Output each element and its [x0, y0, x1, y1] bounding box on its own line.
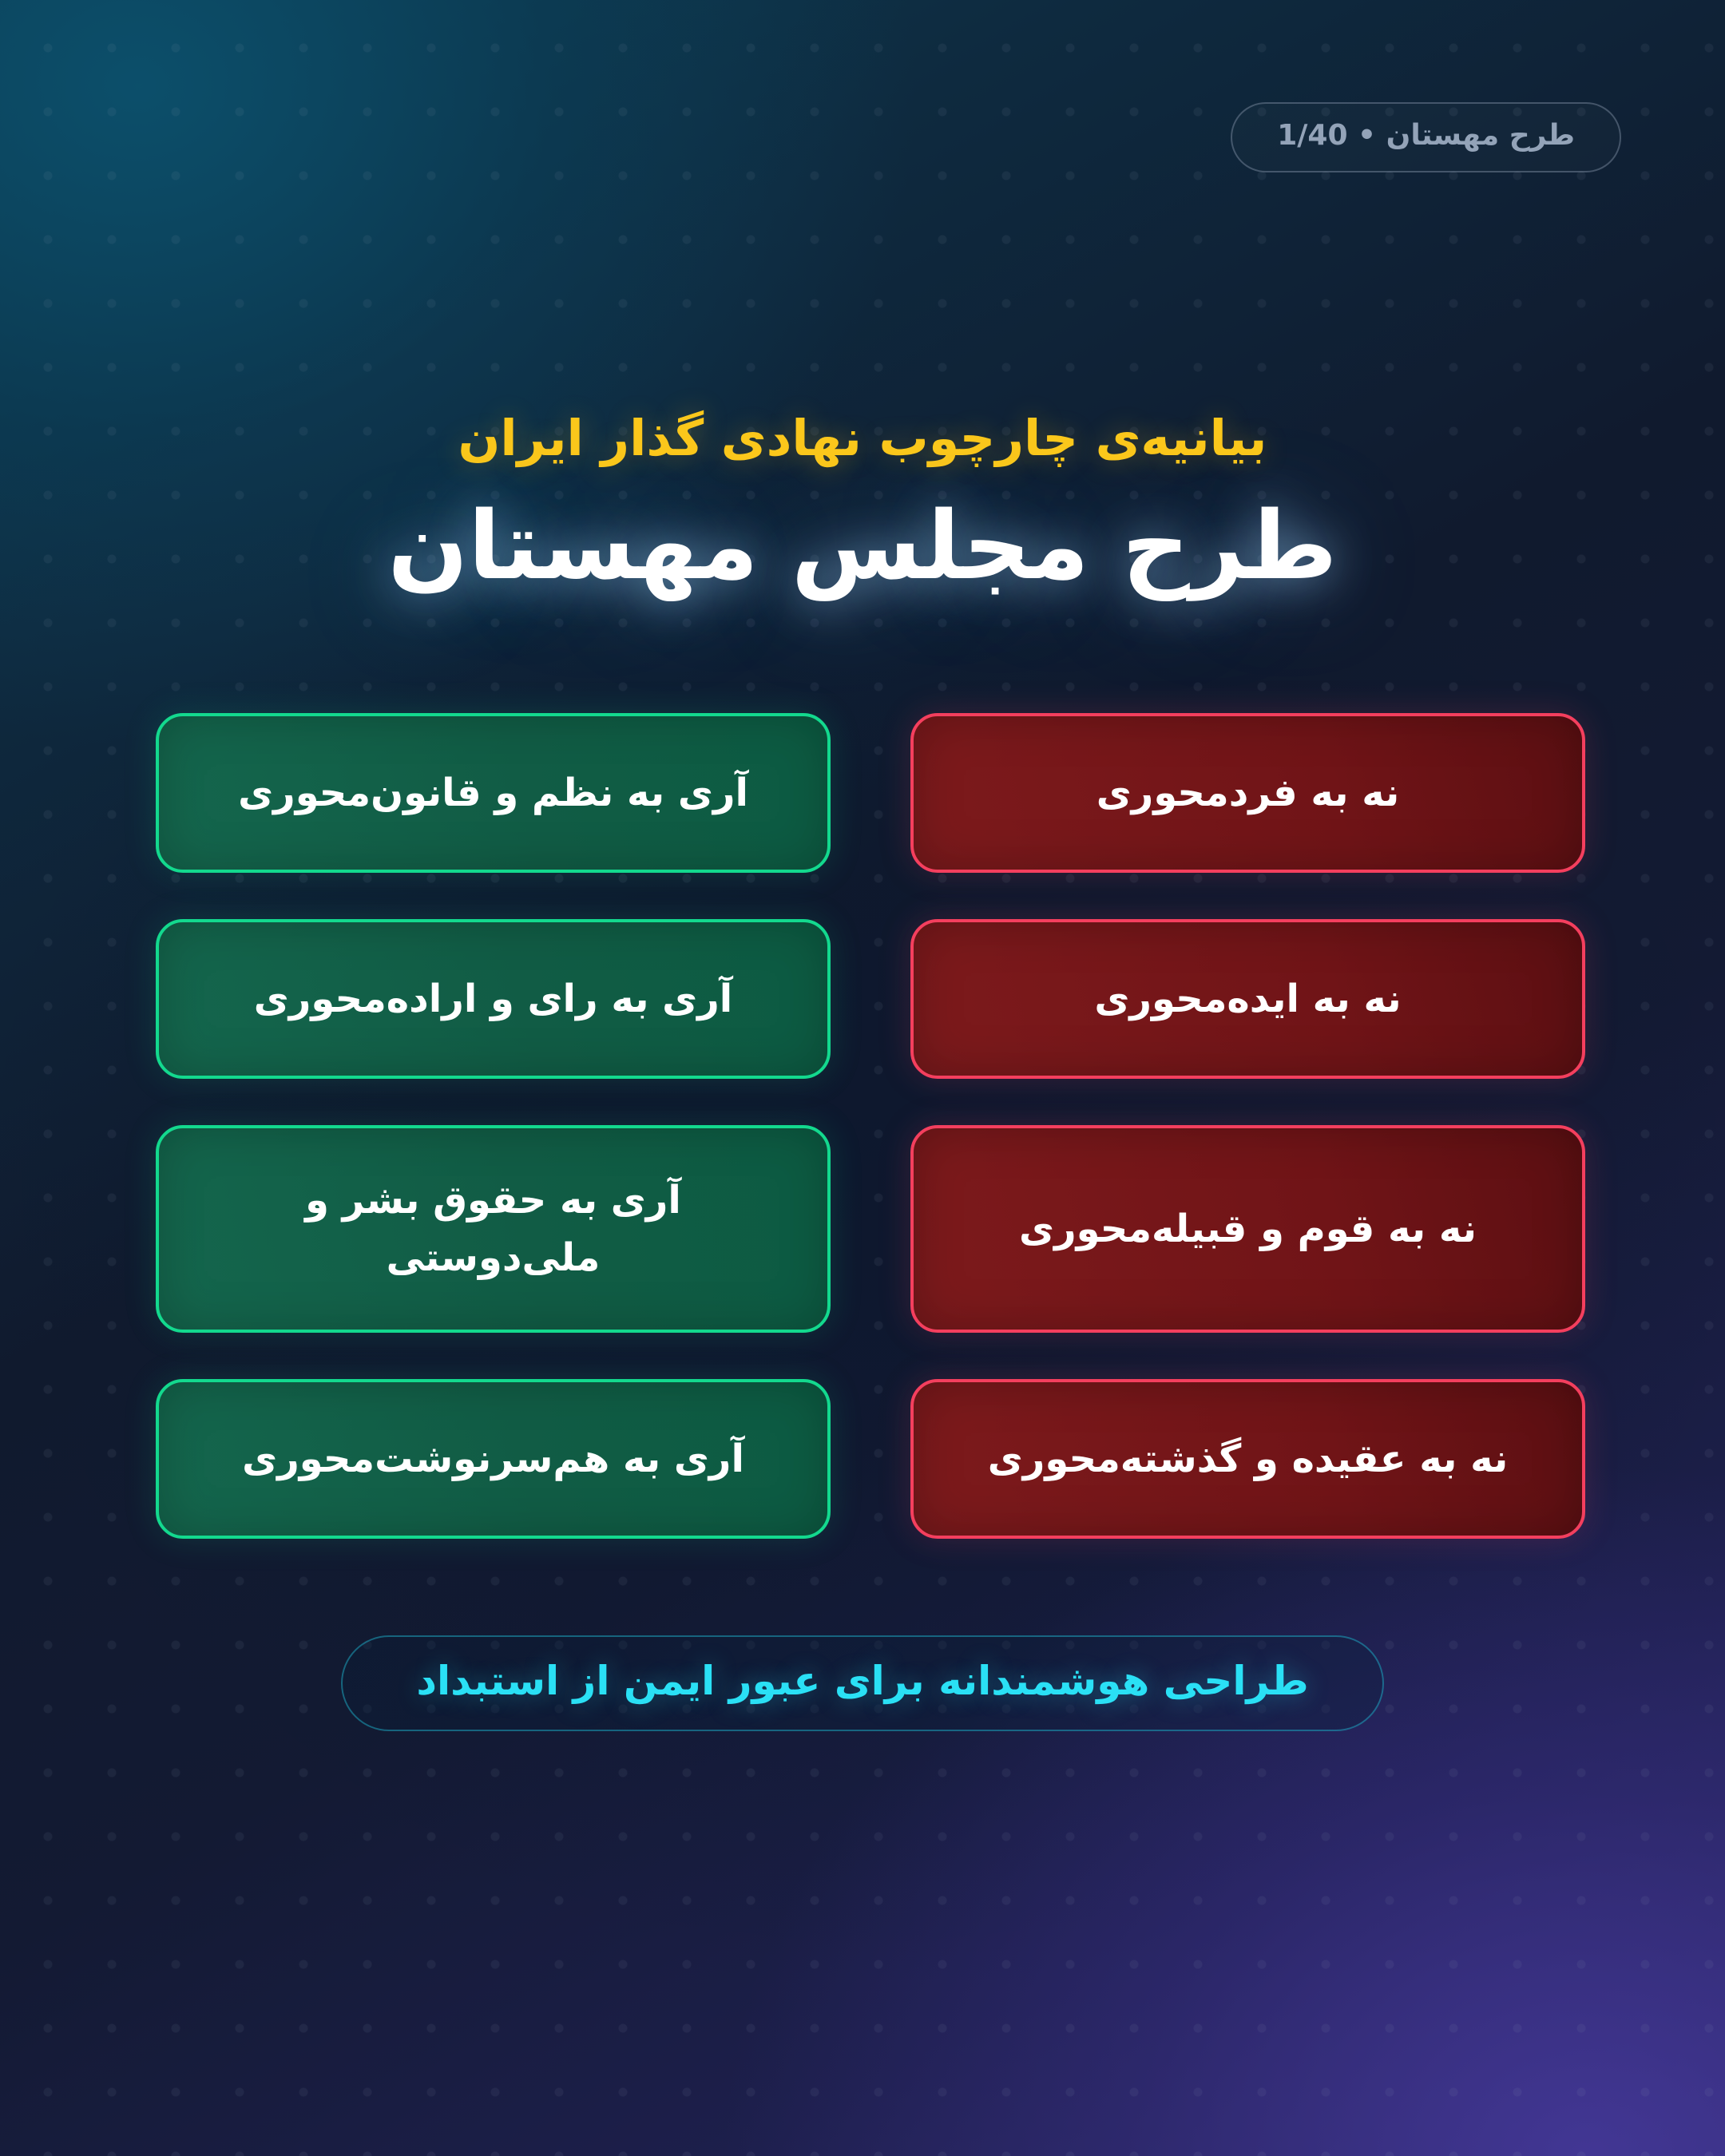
- principles-grid: نه به فردمحوری نه به ایده‌محوری نه به قو…: [156, 713, 1585, 1539]
- page-title: طرح مجلس مهستان: [0, 490, 1725, 601]
- affirm-card[interactable]: آری به رای و اراده‌محوری: [156, 919, 831, 1079]
- affirm-card[interactable]: آری به حقوق بشر و ملی‌دوستی: [156, 1125, 831, 1333]
- badge-row: طرح مهستان • 1/40: [0, 102, 1621, 172]
- footer-row: طراحی هوشمندانه برای عبور ایمن از استبدا…: [0, 1635, 1725, 1731]
- eyebrow-subtitle: بیانیه‌ی چارچوب نهادی گذار ایران: [0, 407, 1725, 470]
- reject-card[interactable]: نه به ایده‌محوری: [910, 919, 1585, 1079]
- reject-column: نه به فردمحوری نه به ایده‌محوری نه به قو…: [910, 713, 1585, 1539]
- affirm-card[interactable]: آری به هم‌سرنوشت‌محوری: [156, 1379, 831, 1539]
- reject-card[interactable]: نه به عقیده و گذشته‌محوری: [910, 1379, 1585, 1539]
- affirm-card[interactable]: آری به نظم و قانون‌محوری: [156, 713, 831, 873]
- reject-card[interactable]: نه به فردمحوری: [910, 713, 1585, 873]
- reject-card[interactable]: نه به قوم و قبیله‌محوری: [910, 1125, 1585, 1333]
- affirm-column: آری به نظم و قانون‌محوری آری به رای و ار…: [156, 713, 831, 1539]
- heading-block: بیانیه‌ی چارچوب نهادی گذار ایران طرح مجل…: [0, 407, 1725, 601]
- slide-counter-badge: طرح مهستان • 1/40: [1231, 102, 1621, 172]
- poster-canvas: طرح مهستان • 1/40 بیانیه‌ی چارچوب نهادی …: [0, 0, 1725, 2156]
- tagline-pill: طراحی هوشمندانه برای عبور ایمن از استبدا…: [341, 1635, 1383, 1731]
